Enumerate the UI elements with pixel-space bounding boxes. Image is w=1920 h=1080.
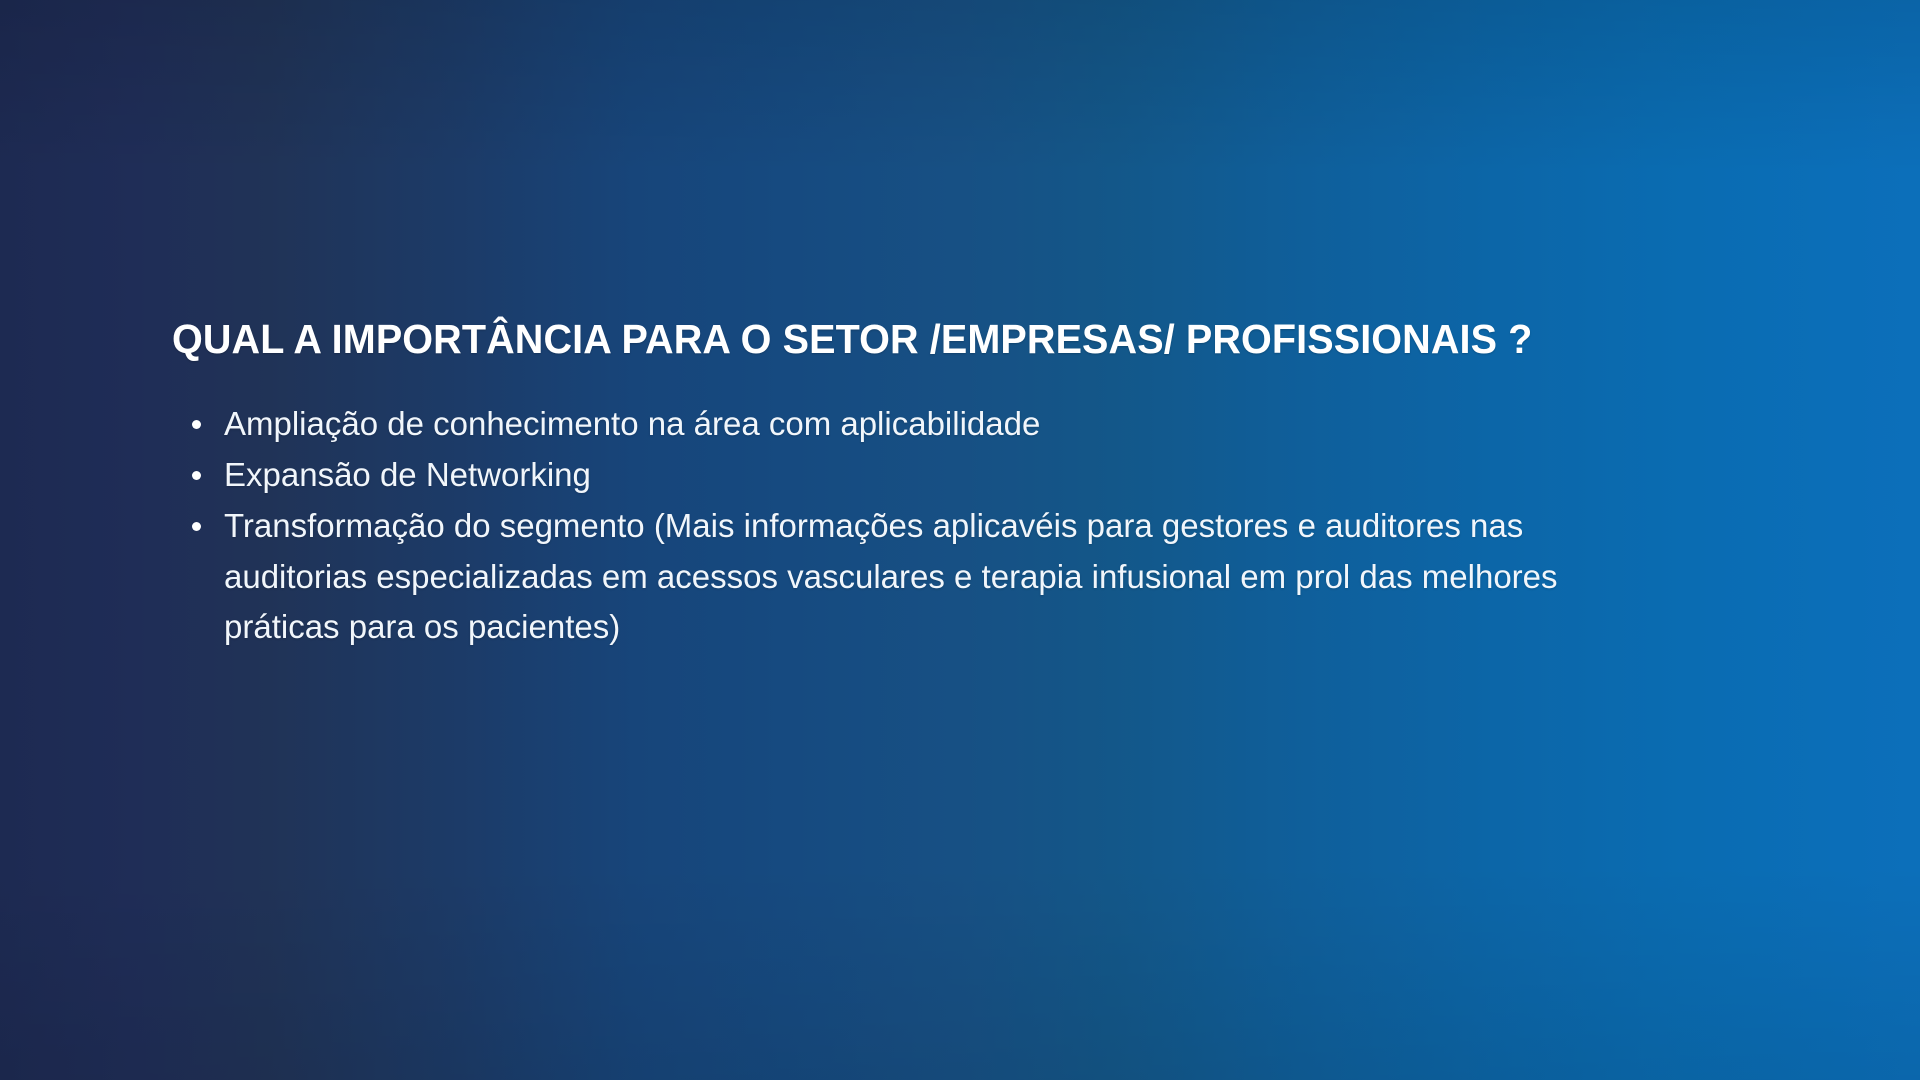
page-title: QUAL A IMPORTÂNCIA PARA O SETOR /EMPRESA… [172,318,1755,361]
bullet-dot-icon [192,420,201,429]
bullet-list: Ampliação de conhecimento na área com ap… [172,399,1572,652]
bullet-dot-icon [192,522,201,531]
list-item: Expansão de Networking [172,450,1572,500]
presentation-slide: QUAL A IMPORTÂNCIA PARA O SETOR /EMPRESA… [0,0,1920,1080]
bullet-dot-icon [192,471,201,480]
list-item: Ampliação de conhecimento na área com ap… [172,399,1572,449]
list-item: Transformação do segmento (Mais informaç… [172,501,1572,651]
list-item-label: Expansão de Networking [224,450,1572,500]
list-item-label: Ampliação de conhecimento na área com ap… [224,399,1572,449]
list-item-label: Transformação do segmento (Mais informaç… [224,501,1572,651]
slide-content: QUAL A IMPORTÂNCIA PARA O SETOR /EMPRESA… [172,318,1812,653]
